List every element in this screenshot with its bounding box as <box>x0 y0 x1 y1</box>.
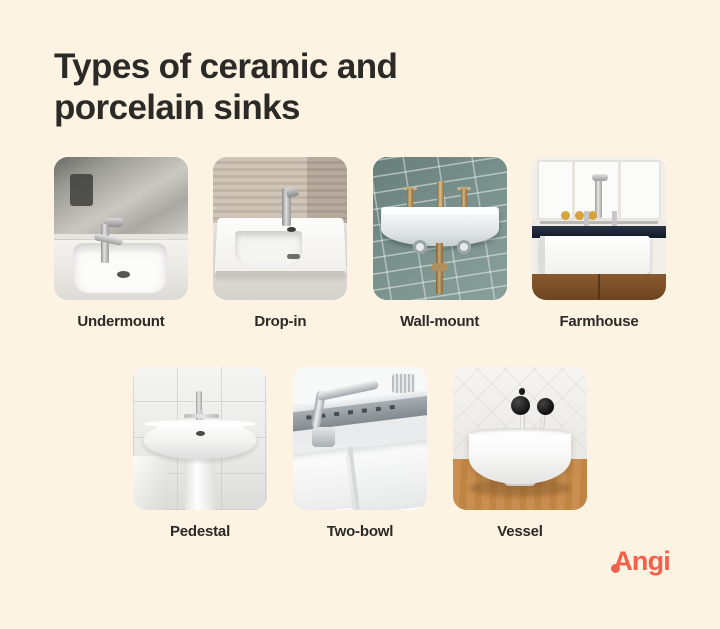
infographic-canvas: Types of ceramic and porcelain sinks Und… <box>0 0 720 629</box>
angi-logo-text: Angi <box>613 546 670 576</box>
angi-logo[interactable]: Angi <box>611 548 670 575</box>
sink-type-row-1: Undermount Drop-in <box>54 157 666 330</box>
undermount-sink-photo <box>54 157 188 300</box>
sink-type-label-undermount: Undermount <box>77 313 164 330</box>
sink-type-label-wall-mount: Wall-mount <box>400 313 479 330</box>
drop-in-sink-photo <box>213 157 347 300</box>
sink-type-card-drop-in: Drop-in <box>213 157 347 330</box>
vessel-sink-photo <box>453 367 587 510</box>
sink-type-label-drop-in: Drop-in <box>254 313 306 330</box>
sink-type-card-two-bowl: Two-bowl <box>293 367 427 540</box>
sink-type-label-pedestal: Pedestal <box>170 523 230 540</box>
wall-mount-sink-photo <box>373 157 507 300</box>
title-line-1: Types of ceramic and <box>54 46 614 87</box>
title-line-2: porcelain sinks <box>54 87 614 128</box>
sink-type-card-pedestal: Pedestal <box>133 367 267 540</box>
farmhouse-sink-photo <box>532 157 666 300</box>
sink-type-label-two-bowl: Two-bowl <box>327 523 393 540</box>
page-title: Types of ceramic and porcelain sinks <box>54 46 614 129</box>
sink-type-row-2: Pedestal Two-bowl <box>133 367 587 540</box>
sink-type-label-farmhouse: Farmhouse <box>559 313 638 330</box>
sink-type-card-wall-mount: Wall-mount <box>373 157 507 330</box>
sink-type-card-vessel: Vessel <box>453 367 587 540</box>
pedestal-sink-photo <box>133 367 267 510</box>
sink-type-card-farmhouse: Farmhouse <box>532 157 666 330</box>
sink-type-label-vessel: Vessel <box>497 523 543 540</box>
sink-type-card-undermount: Undermount <box>54 157 188 330</box>
two-bowl-sink-photo <box>293 367 427 510</box>
